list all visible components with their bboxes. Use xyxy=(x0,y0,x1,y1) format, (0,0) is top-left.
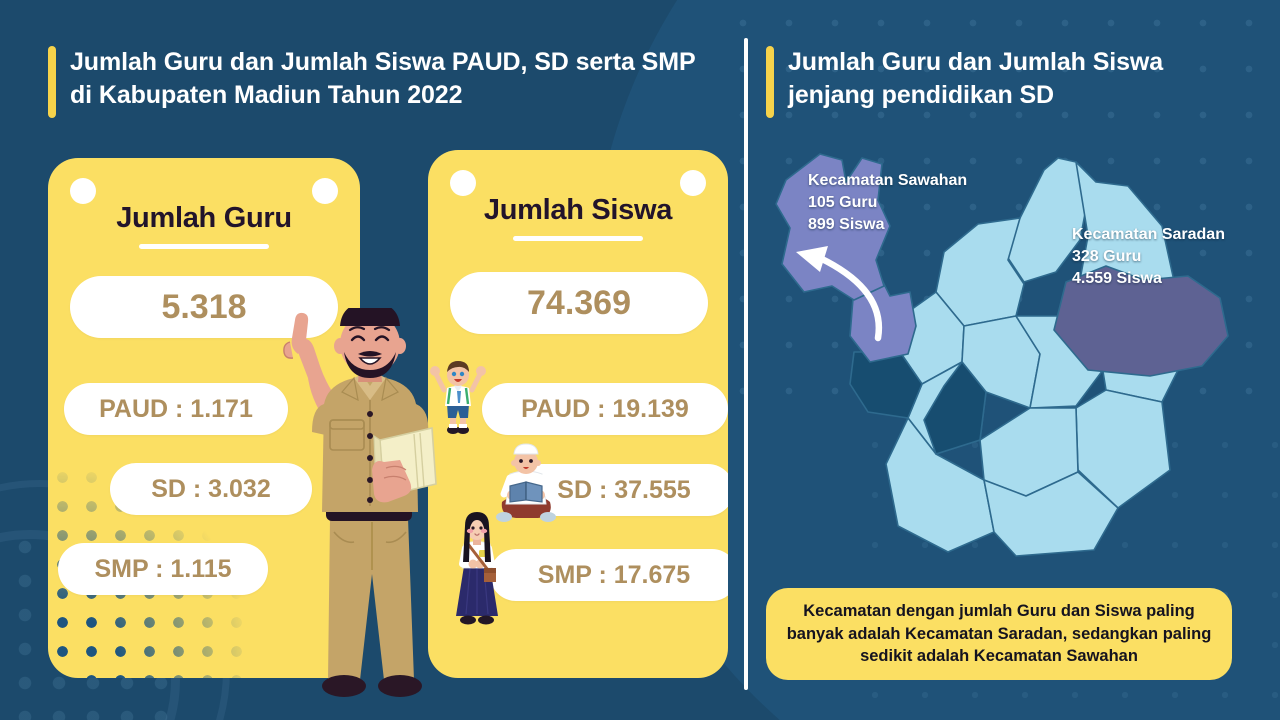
stat-guru-paud: PAUD : 1.171 xyxy=(64,383,288,435)
stat-total-siswa: 74.369 xyxy=(450,272,708,334)
right-panel-title-text: Jumlah Guru dan Jumlah Siswa jenjang pen… xyxy=(788,46,1236,112)
stat-siswa-smp: SMP : 17.675 xyxy=(490,549,728,601)
card-heading-guru: Jumlah Guru xyxy=(48,202,360,235)
map-label-sawahan-district: Kecamatan Sawahan xyxy=(808,170,967,192)
student-paud-illustration xyxy=(428,358,488,436)
map-label-saradan: Kecamatan Saradan 328 Guru 4.559 Siswa xyxy=(1072,224,1225,290)
panel-divider xyxy=(744,38,748,690)
card-heading-siswa: Jumlah Siswa xyxy=(428,194,728,227)
map-label-saradan-students: 4.559 Siswa xyxy=(1072,268,1225,290)
map-label-sawahan: Kecamatan Sawahan 105 Guru 899 Siswa xyxy=(808,170,967,236)
card-heading-underline xyxy=(139,244,269,249)
map-label-sawahan-students: 899 Siswa xyxy=(808,214,967,236)
title-accent-bar xyxy=(766,46,774,118)
card-header: Jumlah Siswa xyxy=(428,150,728,241)
map-panel: Kecamatan Sawahan 105 Guru 899 Siswa Kec… xyxy=(758,140,1268,580)
card-header: Jumlah Guru xyxy=(48,158,360,249)
map-label-saradan-district: Kecamatan Saradan xyxy=(1072,224,1225,246)
card-heading-underline xyxy=(513,236,643,241)
stat-siswa-paud: PAUD : 19.139 xyxy=(482,383,728,435)
left-panel-title: Jumlah Guru dan Jumlah Siswa PAUD, SD se… xyxy=(48,46,708,118)
title-accent-bar xyxy=(48,46,56,118)
student-smp-illustration xyxy=(446,508,508,630)
map-label-sawahan-teachers: 105 Guru xyxy=(808,192,967,214)
map-summary-note-text: Kecamatan dengan jumlah Guru dan Siswa p… xyxy=(780,600,1218,668)
map-label-saradan-teachers: 328 Guru xyxy=(1072,246,1225,268)
map-summary-note: Kecamatan dengan jumlah Guru dan Siswa p… xyxy=(766,588,1232,680)
left-panel-title-text: Jumlah Guru dan Jumlah Siswa PAUD, SD se… xyxy=(70,46,708,112)
right-panel-title: Jumlah Guru dan Jumlah Siswa jenjang pen… xyxy=(766,46,1236,118)
stat-guru-smp: SMP : 1.115 xyxy=(58,543,268,595)
